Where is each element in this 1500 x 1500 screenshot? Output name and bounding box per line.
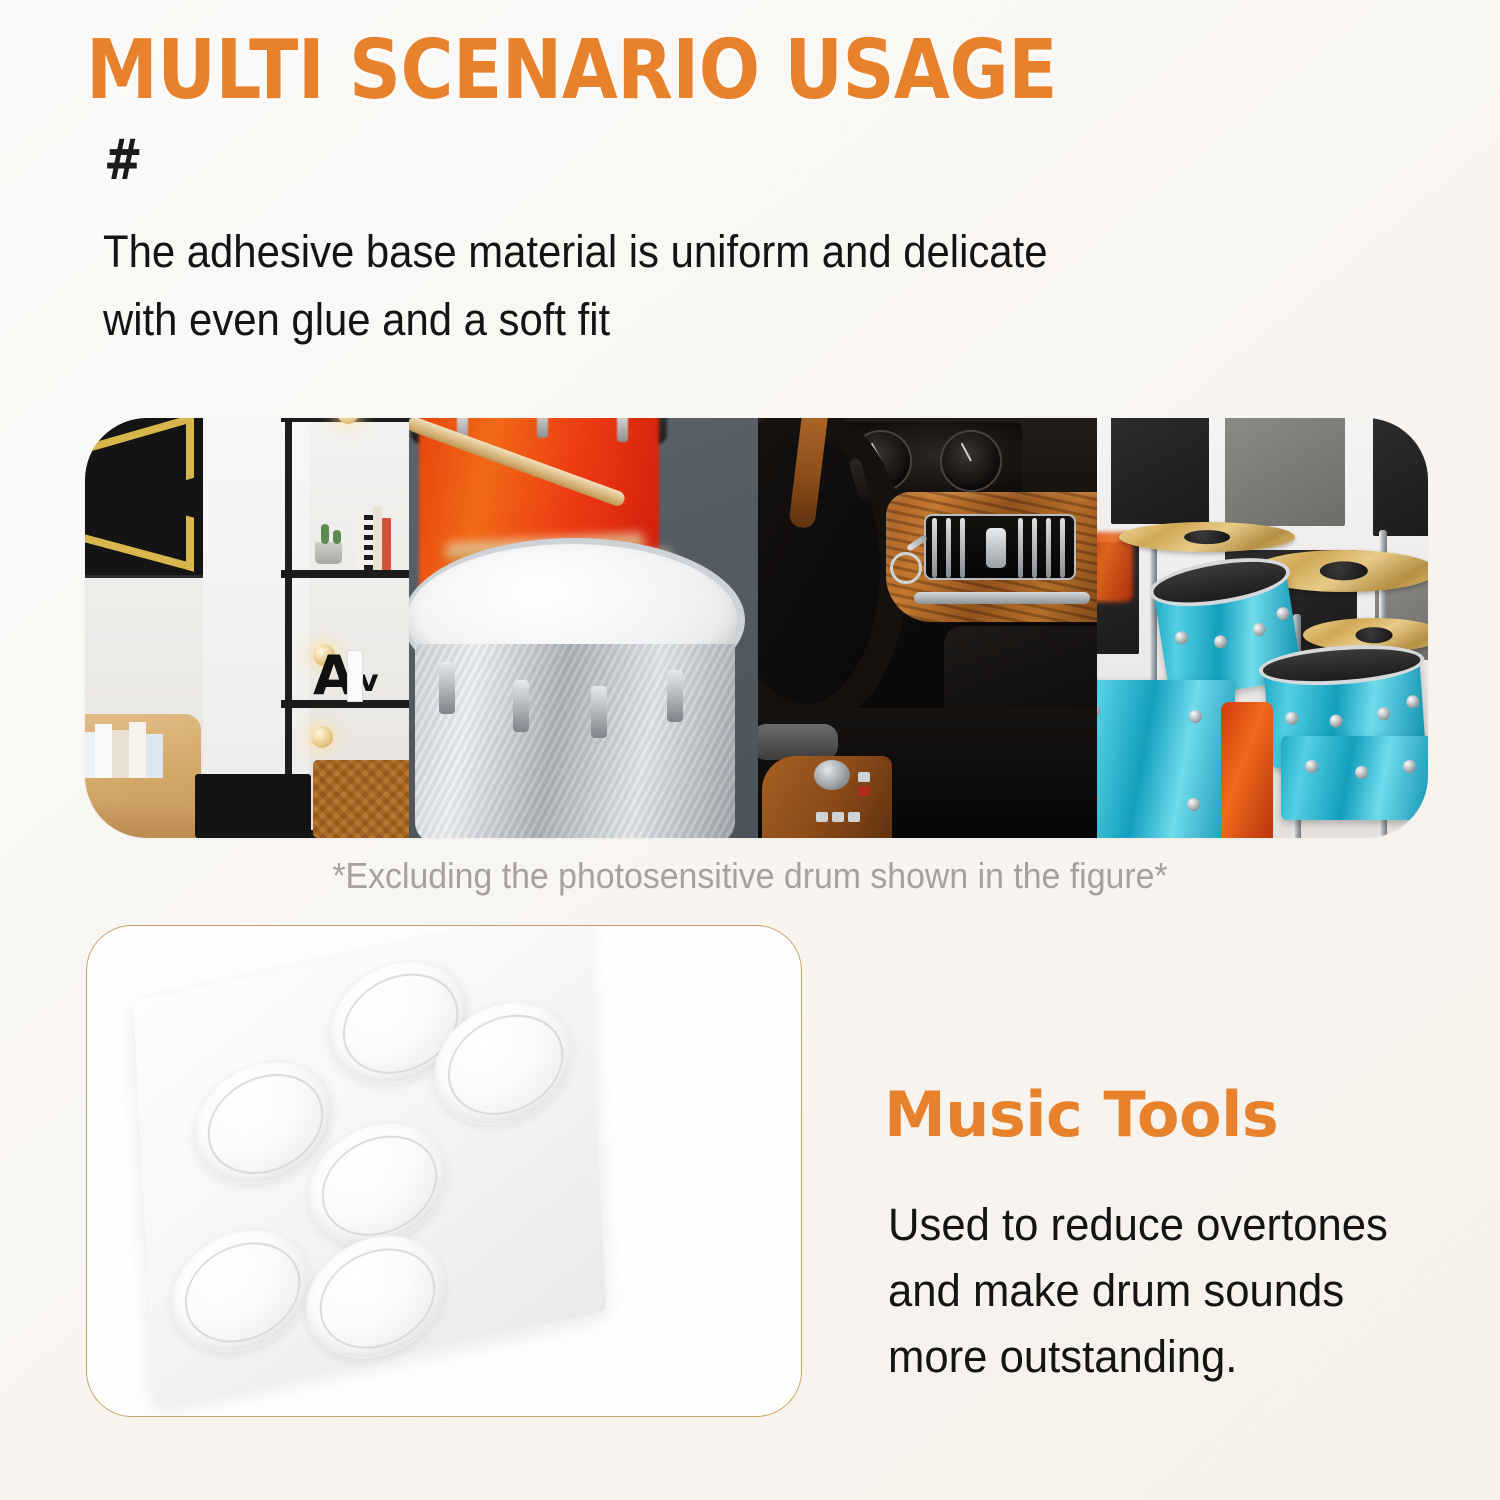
black-side-cart [195,774,311,838]
armrest [758,724,838,760]
page-title: MULTI SCENARIO USAGE [86,28,1230,114]
scenario-photo-strip: A v [85,418,1428,838]
gel-pad [303,1223,448,1372]
dampener-gel-sheet [133,925,606,1406]
photo-car-interior [758,418,1097,838]
gear-selector [814,760,850,790]
snare-teal [1281,736,1428,820]
paper-stack [85,720,175,778]
lede-paragraph: The adhesive base material is uniform an… [103,218,1200,354]
disclaimer-note: *Excluding the photosensitive drum shown… [45,855,1455,897]
crash-cymbal [1119,522,1295,552]
air-vent [924,514,1076,580]
car-key-fob [890,542,922,576]
photo-snare-drum [409,418,758,838]
tools-heading: Music Tools [884,1082,1278,1148]
hash-marker: # [104,133,142,189]
wicker-basket [313,760,409,838]
acoustic-foam-panel [1373,418,1428,536]
photo-living-room: A v [85,418,409,838]
acoustic-foam-panel [1111,418,1209,524]
gel-pad [168,1216,313,1365]
wall-art-geometric [85,418,211,578]
product-photo-panel [86,925,802,1417]
bass-drum-teal [1097,680,1235,838]
tools-description: Used to reduce overtones and make drum s… [888,1192,1431,1390]
photo-studio-drum-kit [1097,418,1428,838]
acoustic-foam-panel [1225,418,1345,526]
